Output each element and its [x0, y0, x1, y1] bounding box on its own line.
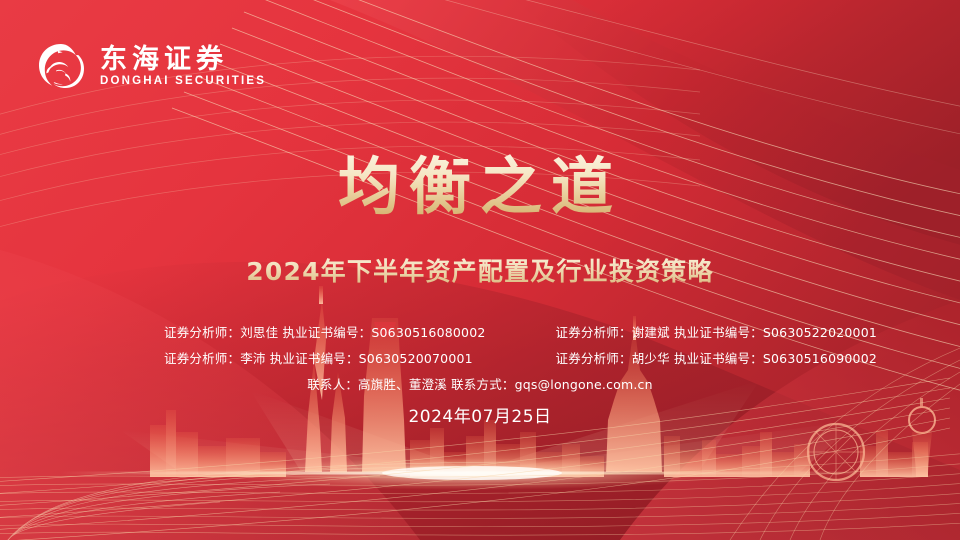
publish-date: 2024年07月25日 [0, 402, 960, 427]
presentation-cover-slide: 东海证券 DONGHAI SECURITIES 均衡之道 2024年下半年资产配… [0, 0, 960, 540]
analyst-credit: 证券分析师：李沛 执业证书编号：S0630520070001 [150, 348, 486, 367]
brand-name-cn: 东海证券 [100, 46, 266, 74]
analyst-credit: 证券分析师：刘思佳 执业证书编号：S0630516080002 [150, 322, 486, 341]
donghai-dragon-circle-icon [34, 40, 88, 94]
page-subtitle: 2024年下半年资产配置及行业投资策略 [0, 252, 960, 288]
analyst-credits: 证券分析师：刘思佳 执业证书编号：S0630516080002 证券分析师：谢建… [0, 322, 960, 367]
analyst-credit: 证券分析师：胡少华 执业证书编号：S0630516090002 [486, 348, 878, 367]
brand-logo: 东海证券 DONGHAI SECURITIES [34, 40, 266, 94]
contact-line: 联系人：高旗胜、董澄溪 联系方式：gqs@longone.com.cn [0, 374, 960, 393]
brand-name-en: DONGHAI SECURITIES [100, 76, 266, 88]
page-title: 均衡之道 [0, 152, 960, 221]
brand-wordmark: 东海证券 DONGHAI SECURITIES [100, 46, 266, 88]
analyst-credit: 证券分析师：谢建斌 执业证书编号：S0630522020001 [486, 322, 878, 341]
